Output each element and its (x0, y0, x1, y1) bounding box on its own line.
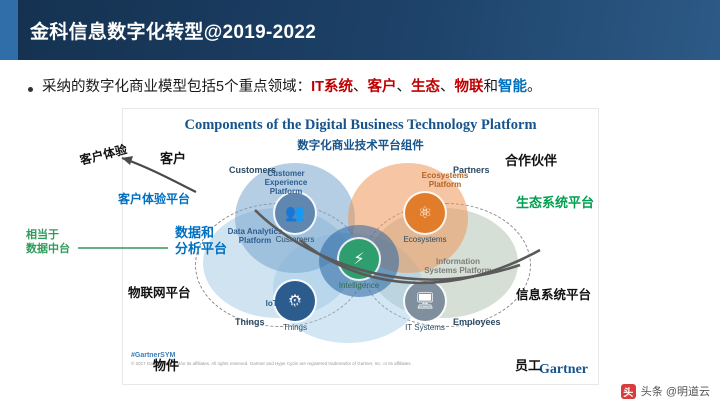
header-accent-bar (0, 0, 18, 60)
bullet-keyword-it: IT系统 (311, 79, 353, 95)
slide: 金科信息数字化转型@2019-2022 采纳的数字化商业模型包括5个重点领域：I… (0, 0, 720, 405)
annotation-data-platform-line1: 数据和 (175, 225, 227, 241)
annotation-data-platform-line2: 分析平台 (175, 241, 227, 257)
annotation-data-center: 相当于 数据中台 (26, 228, 70, 257)
bullet-keyword-eco: 生态 (411, 79, 440, 95)
label-node-it-systems: IT Systems (395, 323, 455, 332)
corner-label-partners: Partners (453, 165, 490, 176)
page-title: 金科信息数字化转型@2019-2022 (30, 17, 316, 44)
label-node-intelligence: Intelligence (329, 281, 389, 290)
bullet-join: 和 (483, 79, 498, 95)
bullet-sep-2: 、 (396, 79, 411, 95)
bullet-sep-1: 、 (353, 79, 368, 95)
label-node-customers: Customers (265, 235, 325, 244)
annotation-things: 物件 (153, 355, 179, 374)
annotation-data-center-line1: 相当于 (26, 228, 70, 242)
watermark-text: 头条 @明道云 (641, 383, 710, 399)
annotation-data-platform: 数据和 分析平台 (175, 225, 227, 258)
watermark-logo-icon: 头 (621, 384, 636, 399)
annotation-customer: 客户 (160, 148, 186, 167)
bullet-keyword-iot: 物联 (454, 79, 483, 95)
figure-title: Components of the Digital Business Techn… (123, 117, 598, 134)
watermark: 头 头条 @明道云 (621, 383, 710, 399)
bullet-keyword-intelligence: 智能 (498, 79, 527, 95)
node-ecosystems-icon: ⚛ (405, 193, 445, 233)
bullet-prefix: 采纳的数字化商业模型包括5个重点领域： (42, 79, 311, 95)
label-node-ecosystems: Ecosystems (395, 235, 455, 244)
annotation-cx-platform: 客户体验平台 (118, 190, 190, 207)
bullet-line: 采纳的数字化商业模型包括5个重点领域：IT系统、客户、生态、物联和智能。 (28, 78, 698, 98)
bullet-suffix: 。 (527, 79, 542, 95)
bullet-dot-icon (28, 87, 33, 92)
node-it-systems-icon: 🖥 (405, 281, 445, 321)
gartner-logo: Gartner (539, 362, 588, 378)
bullet-text: 采纳的数字化商业模型包括5个重点领域：IT系统、客户、生态、物联和智能。 (42, 78, 541, 98)
corner-label-employees: Employees (453, 317, 501, 328)
annotation-eco-platform: 生态系统平台 (516, 192, 594, 211)
annotation-iot-platform: 物联网平台 (128, 282, 191, 301)
corner-label-customers: Customers (229, 165, 276, 176)
annotation-employees: 员工 (515, 355, 541, 374)
bullet-keyword-customer: 客户 (367, 79, 396, 95)
annotation-partners: 合作伙伴 (505, 150, 557, 169)
annotation-info-platform: 信息系统平台 (516, 284, 591, 303)
bullet-sep-3: 、 (440, 79, 455, 95)
annotation-data-center-line2: 数据中台 (26, 242, 70, 256)
label-iot-platform: IoT Platform (263, 299, 315, 308)
label-node-things: Things (265, 323, 325, 332)
figure-copyright-note: © 2017 Gartner, Inc. and/or its affiliat… (131, 361, 461, 367)
node-intelligence-icon: ⚡ (339, 239, 379, 279)
slide-header: 金科信息数字化转型@2019-2022 (0, 0, 720, 60)
label-information-systems-platform: Information Systems Platform (419, 257, 497, 275)
corner-label-things: Things (235, 317, 265, 328)
